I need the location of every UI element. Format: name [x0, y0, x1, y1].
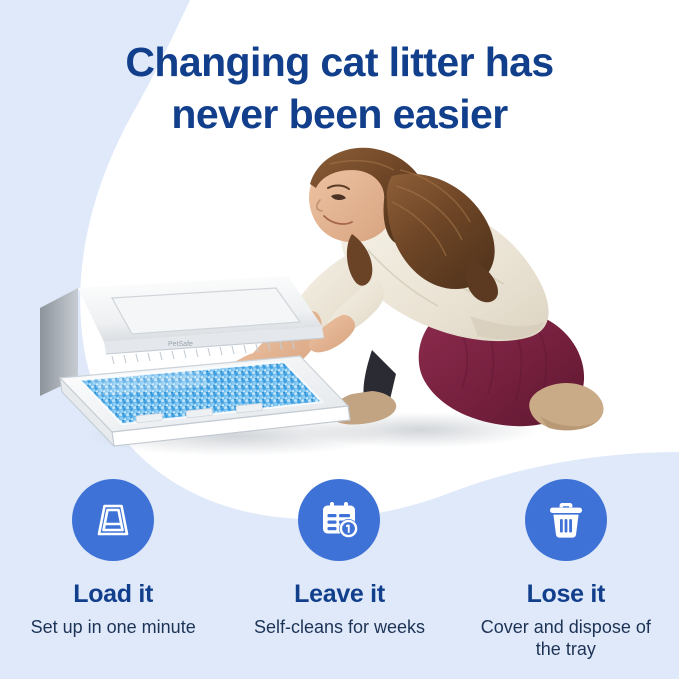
product-brand-label: PetSafe: [168, 341, 193, 348]
person-front-shoe: [529, 383, 603, 430]
page-title: Changing cat litter has never been easie…: [0, 36, 679, 141]
trash-can-icon: [544, 498, 588, 542]
feature-row: Load it Set up in one minute: [0, 479, 679, 661]
feature-lose-it[interactable]: Lose it Cover and dispose of the tray: [453, 479, 679, 661]
feature-desc-1: Set up in one minute: [31, 616, 196, 639]
page-title-line-2: never been easier: [40, 88, 639, 140]
feature-icon-circle-1: [72, 479, 154, 561]
feature-title-3: Lose it: [527, 581, 605, 609]
feature-title-1: Load it: [73, 581, 153, 609]
litter-box-product: PetSafe: [40, 276, 350, 446]
hero-photo: PetSafe: [0, 140, 679, 465]
feature-load-it[interactable]: Load it Set up in one minute: [0, 479, 226, 661]
litter-tray-icon: [91, 498, 135, 542]
feature-title-2: Leave it: [294, 581, 385, 609]
page-title-line-1: Changing cat litter has: [40, 36, 639, 88]
feature-icon-circle-3: [525, 479, 607, 561]
feature-icon-circle-2: [298, 479, 380, 561]
feature-desc-2: Self-cleans for weeks: [254, 616, 425, 639]
calendar-one-icon: [317, 498, 361, 542]
feature-desc-3: Cover and dispose of the tray: [476, 616, 656, 661]
litter-box-infographic: Changing cat litter has never been easie…: [0, 0, 679, 679]
feature-leave-it[interactable]: Leave it Self-cleans for weeks: [226, 479, 452, 661]
